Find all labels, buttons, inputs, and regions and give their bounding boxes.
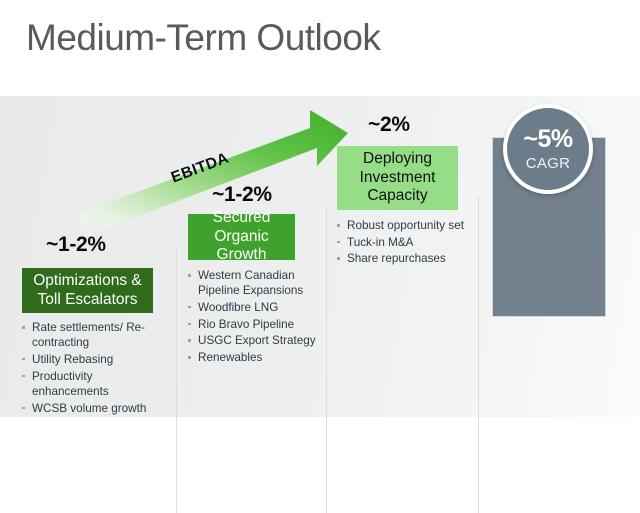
page-title: Medium-Term Outlook [26,18,380,59]
list-item: Western Canadian Pipeline Expansions [188,268,338,298]
growth-value-3: ~2% [368,113,410,137]
cagr-caption: CAGR [526,156,571,171]
list-item: Share repurchases [337,251,487,266]
list-item: Rio Bravo Pipeline [188,317,338,332]
pillar-box-deploying-investment-capacity[interactable]: Deploying Investment Capacity [337,146,458,210]
list-item: Robust opportunity set [337,218,487,233]
list-item: WCSB volume growth [22,401,172,416]
list-item: Renewables [188,350,338,365]
list-item: Productivity enhancements [22,369,172,399]
growth-value-1: ~1-2% [46,233,106,257]
list-item: Tuck-in M&A [337,235,487,250]
cagr-value: ~5% [523,127,572,152]
list-item: Rate settlements/ Re-contracting [22,320,172,350]
list-item: Woodfibre LNG [188,300,338,315]
pillar-bullets-3: Robust opportunity set Tuck-in M&A Share… [337,218,487,268]
pillar-box-optimizations[interactable]: Optimizations & Toll Escalators [22,268,153,313]
list-item: USGC Export Strategy [188,333,338,348]
growth-value-2: ~1-2% [212,183,272,207]
cagr-badge: ~5% CAGR [503,104,593,194]
column-divider-1 [176,248,177,513]
list-item: Utility Rebasing [22,352,172,367]
pillar-box-secured-organic-growth[interactable]: Secured Organic Growth [188,214,295,260]
pillar-bullets-2: Western Canadian Pipeline Expansions Woo… [188,268,338,367]
pillar-bullets-1: Rate settlements/ Re-contracting Utility… [22,320,172,417]
